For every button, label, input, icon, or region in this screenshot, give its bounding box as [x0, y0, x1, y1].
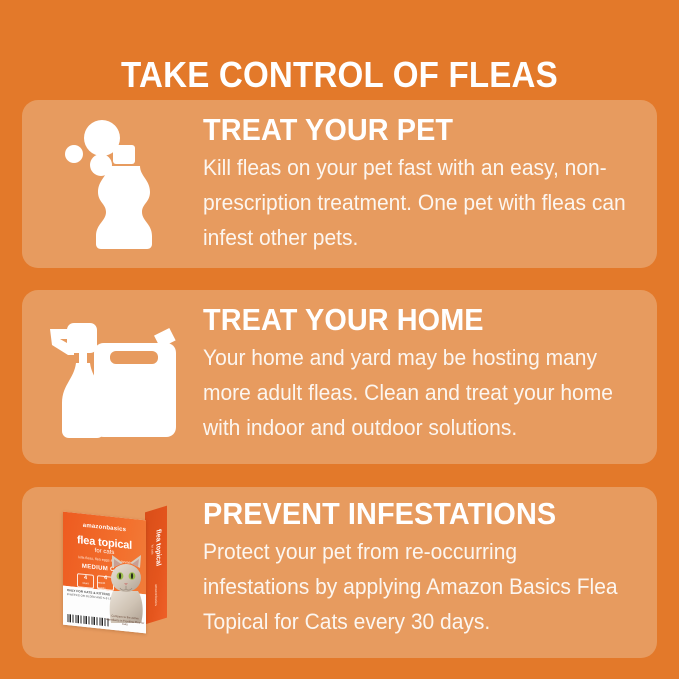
shampoo-bottle-with-bubbles-icon	[22, 100, 203, 268]
badge-count: 4 count	[77, 573, 94, 589]
flea-control-infographic: TAKE CONTROL OF FLEAS TREAT YOUR PET Kil…	[0, 0, 679, 679]
card-heading: TREAT YOUR PET	[203, 113, 616, 147]
card-body: PREVENT INFESTATIONS Protect your pet fr…	[203, 487, 657, 639]
badge-count-label: count	[82, 580, 88, 586]
card-heading: PREVENT INFESTATIONS	[203, 497, 616, 531]
box-spine-name: flea topical	[154, 528, 161, 567]
box-spine-brand: amazonbasics	[154, 569, 158, 620]
page-title: TAKE CONTROL OF FLEAS	[27, 55, 652, 95]
card-prevent-infestations: flea topical for cats amazonbasics amazo…	[22, 487, 657, 658]
product-box-photo: flea topical for cats amazonbasics amazo…	[22, 487, 203, 658]
card-treat-your-home: TREAT YOUR HOME Your home and yard may b…	[22, 290, 657, 464]
card-description: Your home and yard may be hosting many m…	[203, 340, 627, 445]
card-description: Protect your pet from re-occurring infes…	[203, 534, 627, 639]
card-heading: TREAT YOUR HOME	[203, 303, 616, 337]
brand-logo: amazonbasics	[63, 520, 146, 535]
amazon-basics-flea-topical-box: flea topical for cats amazonbasics amazo…	[49, 507, 177, 639]
spray-bottle-and-jug-icon	[22, 290, 203, 464]
card-body: TREAT YOUR HOME Your home and yard may b…	[203, 290, 657, 445]
card-body: TREAT YOUR PET Kill fleas on your pet fa…	[203, 100, 657, 255]
card-treat-your-pet: TREAT YOUR PET Kill fleas on your pet fa…	[22, 100, 657, 268]
card-description: Kill fleas on your pet fast with an easy…	[203, 150, 627, 255]
